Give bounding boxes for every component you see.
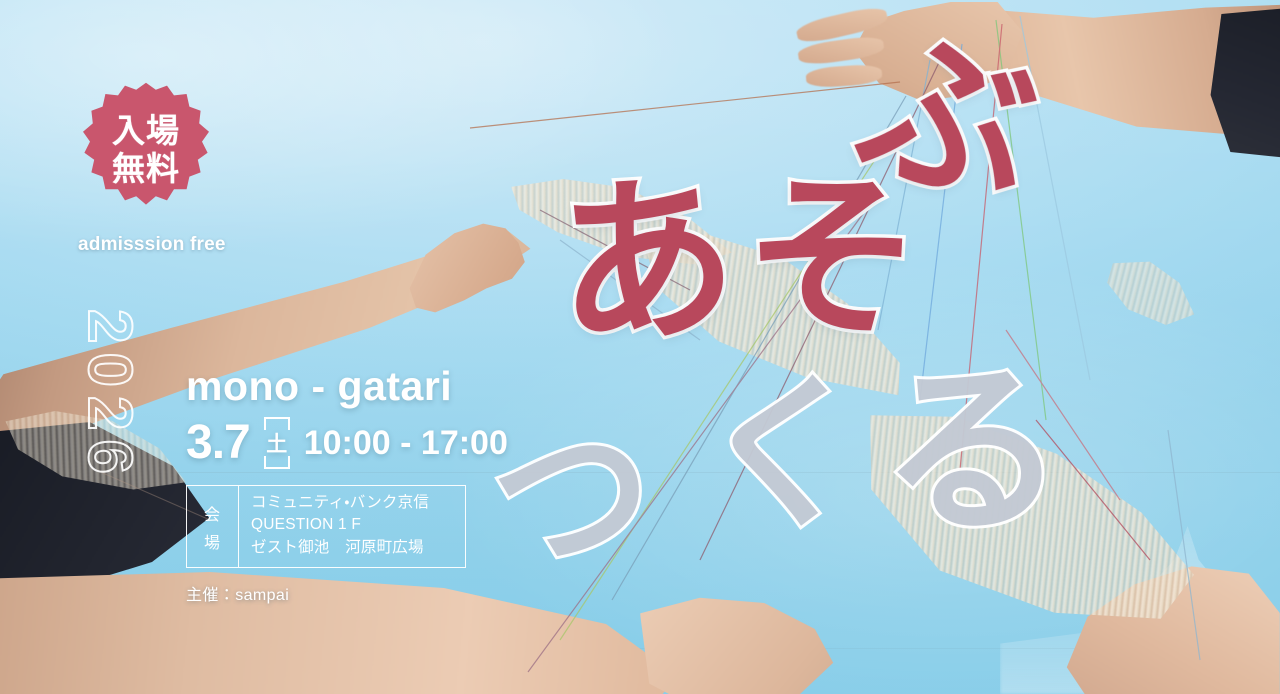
venue-line-3: ゼスト御池 河原町広場 (251, 537, 429, 559)
date-time-row: 3.7 土 10:00 - 17:00 (186, 417, 508, 469)
event-date: 3.7 (186, 419, 250, 467)
organizer-label: 主催：sampai (186, 581, 508, 605)
kana-bu: ぶ (846, 18, 1050, 222)
venue-line-2: QUESTION 1 F (251, 514, 429, 536)
kana-ku: く (692, 362, 874, 544)
venue-label-char-2: 場 (204, 529, 221, 553)
admission-free-caption: admisssion free (78, 234, 226, 256)
day-of-week: 土 (260, 417, 294, 469)
event-title: mono - gatari (186, 366, 508, 407)
venue-line-1: コミュニティ・バンク京信 (251, 492, 429, 514)
venue-box: 会 場 コミュニティ・バンク京信 QUESTION 1 F ゼスト御池 河原町広… (186, 485, 466, 568)
kana-ru: る (875, 355, 1068, 548)
badge-text-block: 入場 無料 (76, 80, 216, 220)
venue-label: 会 場 (187, 486, 239, 567)
event-poster: あ そ ぶ つ く る 入場 無料 admisssion free 2026 m… (0, 0, 1280, 694)
event-info-block: mono - gatari 3.7 土 10:00 - 17:00 会 場 コミ… (186, 366, 508, 605)
badge-line-1: 入場 (112, 112, 180, 150)
year-label: 2026 (81, 271, 137, 521)
kana-a: あ (548, 166, 743, 361)
venue-label-char-1: 会 (204, 501, 221, 525)
event-time: 10:00 - 17:00 (304, 426, 508, 460)
admission-free-badge: 入場 無料 (76, 80, 216, 220)
badge-line-2: 無料 (112, 150, 180, 188)
kana-tsu: つ (484, 410, 662, 588)
venue-details: コミュニティ・バンク京信 QUESTION 1 F ゼスト御池 河原町広場 (239, 486, 439, 567)
